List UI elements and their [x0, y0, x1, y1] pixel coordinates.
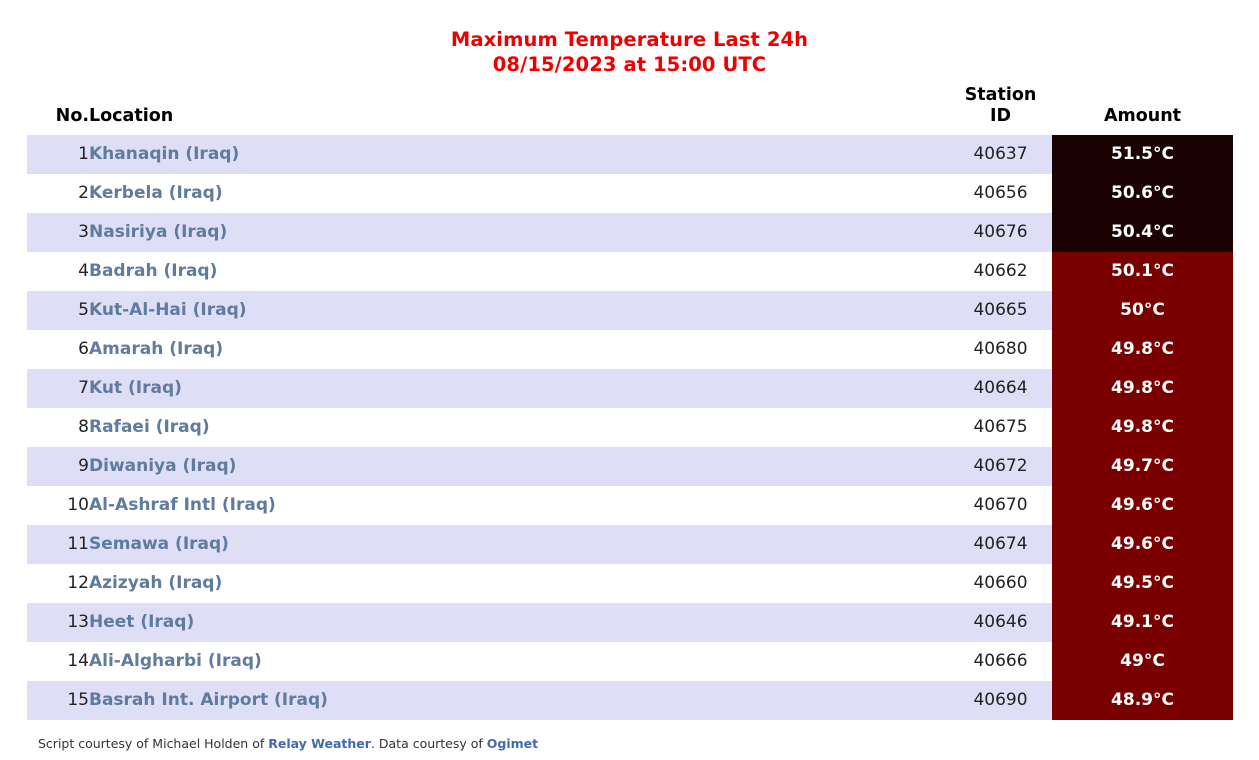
- table-row: 10Al-Ashraf Intl (Iraq)4067049.6°C: [27, 486, 1233, 525]
- cell-amount: 49.6°C: [1052, 486, 1233, 525]
- table-row: 15Basrah Int. Airport (Iraq)4069048.9°C: [27, 681, 1233, 720]
- cell-amount: 49.8°C: [1052, 369, 1233, 408]
- cell-location[interactable]: Diwaniya (Iraq): [89, 447, 949, 486]
- table-row: 4Badrah (Iraq)4066250.1°C: [27, 252, 1233, 291]
- cell-station-id: 40665: [949, 291, 1052, 330]
- cell-amount: 50.1°C: [1052, 252, 1233, 291]
- cell-rank-number: 6: [27, 330, 89, 369]
- cell-station-id: 40637: [949, 135, 1052, 174]
- relay-weather-link[interactable]: Relay Weather: [268, 736, 371, 751]
- cell-location[interactable]: Kut (Iraq): [89, 369, 949, 408]
- title-line-1: Maximum Temperature Last 24h: [0, 27, 1259, 52]
- cell-amount: 49°C: [1052, 642, 1233, 681]
- footer-credits: Script courtesy of Michael Holden of Rel…: [38, 736, 538, 752]
- cell-rank-number: 3: [27, 213, 89, 252]
- cell-station-id: 40672: [949, 447, 1052, 486]
- cell-amount: 49.5°C: [1052, 564, 1233, 603]
- cell-location[interactable]: Basrah Int. Airport (Iraq): [89, 681, 949, 720]
- cell-rank-number: 2: [27, 174, 89, 213]
- cell-amount: 50°C: [1052, 291, 1233, 330]
- temperature-ranking-table: No. Location Station ID Amount 1Khanaqin…: [27, 85, 1233, 720]
- cell-station-id: 40674: [949, 525, 1052, 564]
- cell-station-id: 40664: [949, 369, 1052, 408]
- cell-rank-number: 12: [27, 564, 89, 603]
- column-header-no: No.: [27, 85, 89, 135]
- cell-location[interactable]: Azizyah (Iraq): [89, 564, 949, 603]
- cell-location[interactable]: Kut-Al-Hai (Iraq): [89, 291, 949, 330]
- cell-amount: 50.6°C: [1052, 174, 1233, 213]
- table-row: 12Azizyah (Iraq)4066049.5°C: [27, 564, 1233, 603]
- cell-location[interactable]: Amarah (Iraq): [89, 330, 949, 369]
- table-header-row: No. Location Station ID Amount: [27, 85, 1233, 135]
- cell-station-id: 40670: [949, 486, 1052, 525]
- table-row: 11Semawa (Iraq)4067449.6°C: [27, 525, 1233, 564]
- cell-amount: 49.7°C: [1052, 447, 1233, 486]
- cell-station-id: 40666: [949, 642, 1052, 681]
- cell-amount: 49.1°C: [1052, 603, 1233, 642]
- column-header-station-id-line2: ID: [990, 106, 1011, 126]
- page-root: Maximum Temperature Last 24h 08/15/2023 …: [0, 0, 1259, 760]
- cell-amount: 49.8°C: [1052, 408, 1233, 447]
- cell-rank-number: 13: [27, 603, 89, 642]
- cell-location[interactable]: Kerbela (Iraq): [89, 174, 949, 213]
- column-header-amount: Amount: [1052, 85, 1233, 135]
- cell-rank-number: 1: [27, 135, 89, 174]
- cell-rank-number: 11: [27, 525, 89, 564]
- cell-station-id: 40675: [949, 408, 1052, 447]
- cell-location[interactable]: Nasiriya (Iraq): [89, 213, 949, 252]
- cell-rank-number: 10: [27, 486, 89, 525]
- page-title: Maximum Temperature Last 24h 08/15/2023 …: [0, 0, 1259, 77]
- cell-rank-number: 15: [27, 681, 89, 720]
- cell-station-id: 40660: [949, 564, 1052, 603]
- table-body: 1Khanaqin (Iraq)4063751.5°C2Kerbela (Ira…: [27, 135, 1233, 720]
- cell-rank-number: 7: [27, 369, 89, 408]
- cell-station-id: 40662: [949, 252, 1052, 291]
- column-header-station-id-line1: Station: [965, 85, 1037, 105]
- cell-location[interactable]: Al-Ashraf Intl (Iraq): [89, 486, 949, 525]
- table-row: 6Amarah (Iraq)4068049.8°C: [27, 330, 1233, 369]
- table-row: 7Kut (Iraq)4066449.8°C: [27, 369, 1233, 408]
- table-row: 5Kut-Al-Hai (Iraq)4066550°C: [27, 291, 1233, 330]
- cell-amount: 50.4°C: [1052, 213, 1233, 252]
- cell-station-id: 40680: [949, 330, 1052, 369]
- cell-station-id: 40656: [949, 174, 1052, 213]
- cell-rank-number: 14: [27, 642, 89, 681]
- cell-location[interactable]: Semawa (Iraq): [89, 525, 949, 564]
- cell-station-id: 40676: [949, 213, 1052, 252]
- table-row: 13Heet (Iraq)4064649.1°C: [27, 603, 1233, 642]
- cell-station-id: 40690: [949, 681, 1052, 720]
- column-header-station-id: Station ID: [949, 85, 1052, 135]
- footer-text-part-1: Script courtesy of Michael Holden of: [38, 736, 268, 751]
- cell-location[interactable]: Rafaei (Iraq): [89, 408, 949, 447]
- cell-rank-number: 5: [27, 291, 89, 330]
- table-row: 14Ali-Algharbi (Iraq)4066649°C: [27, 642, 1233, 681]
- cell-station-id: 40646: [949, 603, 1052, 642]
- table-row: 2Kerbela (Iraq)4065650.6°C: [27, 174, 1233, 213]
- cell-amount: 49.8°C: [1052, 330, 1233, 369]
- table-header: No. Location Station ID Amount: [27, 85, 1233, 135]
- column-header-location: Location: [89, 85, 949, 135]
- table-row: 1Khanaqin (Iraq)4063751.5°C: [27, 135, 1233, 174]
- table-row: 8Rafaei (Iraq)4067549.8°C: [27, 408, 1233, 447]
- title-line-2: 08/15/2023 at 15:00 UTC: [0, 52, 1259, 77]
- cell-amount: 49.6°C: [1052, 525, 1233, 564]
- cell-amount: 48.9°C: [1052, 681, 1233, 720]
- footer-text-part-2: . Data courtesy of: [371, 736, 487, 751]
- ogimet-link[interactable]: Ogimet: [487, 736, 538, 751]
- cell-amount: 51.5°C: [1052, 135, 1233, 174]
- cell-location[interactable]: Badrah (Iraq): [89, 252, 949, 291]
- table-row: 9Diwaniya (Iraq)4067249.7°C: [27, 447, 1233, 486]
- cell-rank-number: 8: [27, 408, 89, 447]
- cell-location[interactable]: Ali-Algharbi (Iraq): [89, 642, 949, 681]
- cell-rank-number: 9: [27, 447, 89, 486]
- table-row: 3Nasiriya (Iraq)4067650.4°C: [27, 213, 1233, 252]
- cell-rank-number: 4: [27, 252, 89, 291]
- cell-location[interactable]: Khanaqin (Iraq): [89, 135, 949, 174]
- cell-location[interactable]: Heet (Iraq): [89, 603, 949, 642]
